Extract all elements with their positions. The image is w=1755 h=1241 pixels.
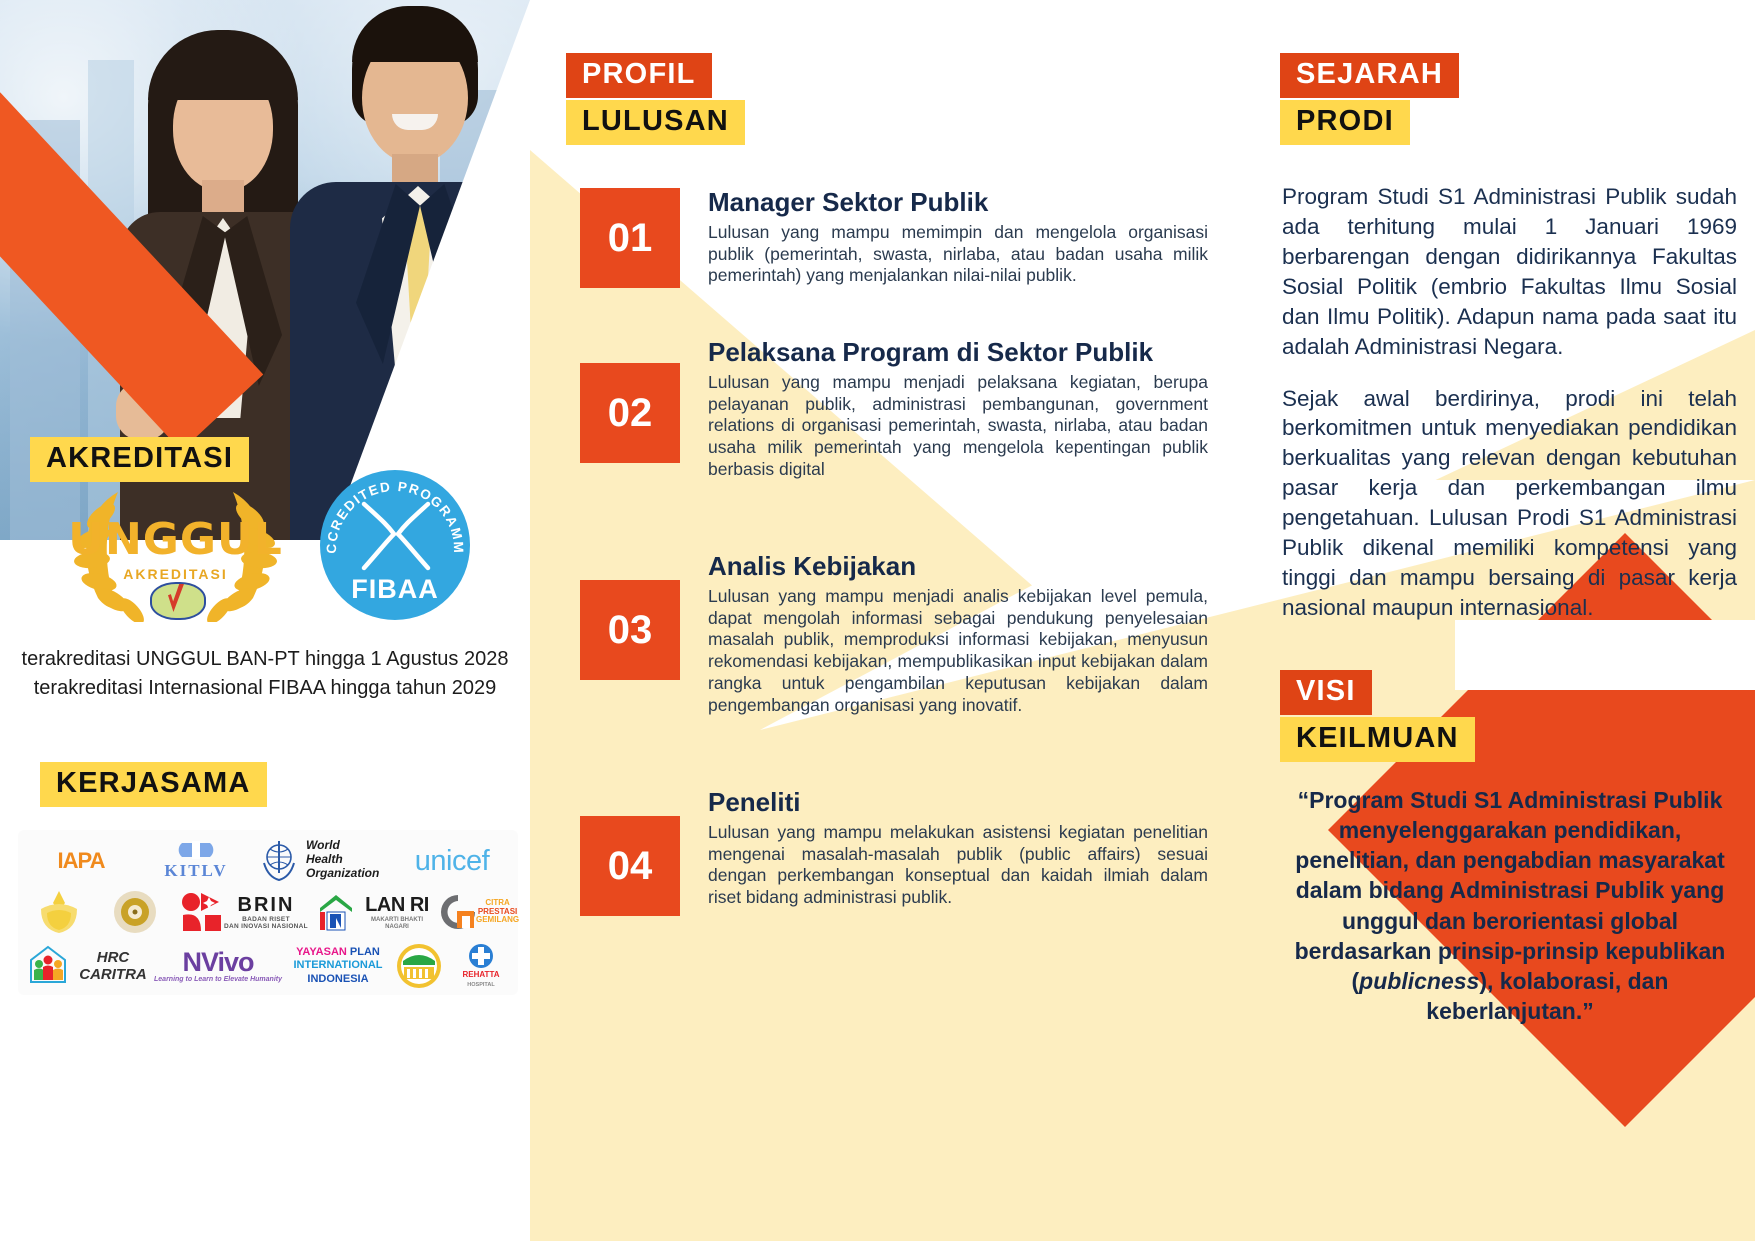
accreditation-caption-line1: terakreditasi UNGGUL BAN-PT hingga 1 Agu…: [0, 645, 530, 674]
lulusan-heading: LULUSAN: [566, 100, 745, 145]
partner-logo-hrc-caritra: HRCCARITRA: [78, 946, 148, 986]
partner-logo-unicef: unicef: [396, 844, 508, 878]
partner-logo-grid: IAPA KITLV WorldHealthOrganization: [18, 830, 518, 995]
partner-logo-rsud-jateng: [392, 942, 446, 990]
profil-item-4-title: Peneliti: [708, 788, 1208, 818]
rsud-emblem-icon: [395, 943, 443, 989]
partner-logo-who-text: WorldHealthOrganization: [306, 838, 390, 882]
partner-logo-yayasan-plan: YAYASAN PLANINTERNATIONALINDONESIA: [290, 942, 386, 990]
partner-logo-universitas-indonesia: [26, 888, 92, 936]
partner-logo-kitlv: KITLV: [146, 836, 246, 884]
prodi-label: PRODI: [1280, 100, 1410, 145]
accreditation-caption: terakreditasi UNGGUL BAN-PT hingga 1 Agu…: [0, 645, 530, 703]
partner-logo-rehatta: REHATTAHOSPITAL: [452, 942, 510, 990]
middle-column: PROFIL LULUSAN 01 Manager Sektor Publik …: [530, 0, 1250, 1241]
profil-item-2-title: Pelaksana Program di Sektor Publik: [708, 338, 1208, 368]
brochure-page: AKREDITASI: [0, 0, 1755, 1241]
visi-statement: “Program Studi S1 Administrasi Publik me…: [1280, 785, 1740, 1026]
profil-item-4-body: Peneliti Lulusan yang mampu melakukan as…: [708, 788, 1208, 909]
lanri-house-icon: [316, 892, 356, 932]
profil-item-1-number: 01: [580, 188, 680, 288]
brin-mark-icon: [179, 891, 223, 933]
citra-g-icon: [439, 893, 477, 931]
partner-logo-ugm: [102, 888, 168, 936]
profil-item-4-number: 04: [580, 816, 680, 916]
profil-heading: PROFIL: [566, 53, 712, 98]
profil-item-2-number: 02: [580, 363, 680, 463]
partner-logo-lanri-mark: [314, 890, 358, 934]
partner-logo-nvivo: NVivo Learning to Learn to Elevate Human…: [154, 940, 282, 992]
partner-logo-iapa: IAPA: [26, 840, 136, 882]
woman-hair-front: [148, 30, 298, 100]
unggul-sublabel: AKREDITASI: [58, 566, 293, 582]
sejarah-paragraph-1: Program Studi S1 Administrasi Publik sud…: [1282, 182, 1737, 362]
partner-logo-citra-mark: [438, 890, 478, 934]
visi-statement-part1: “Program Studi S1 Administrasi Publik me…: [1295, 787, 1726, 994]
sejarah-label: SEJARAH: [1280, 53, 1459, 98]
visi-statement-italic: publicness: [1359, 968, 1479, 994]
sejarah-body: Program Studi S1 Administrasi Publik sud…: [1282, 182, 1737, 623]
accreditation-caption-line2: terakreditasi Internasional FIBAA hingga…: [0, 674, 530, 703]
visi-label: VISI: [1280, 670, 1372, 715]
profil-item-3-number: 03: [580, 580, 680, 680]
prodi-heading: PRODI: [1280, 100, 1410, 145]
partner-logo-hrc-mark: [22, 942, 74, 990]
profil-item-4-text: Lulusan yang mampu melakukan asistensi k…: [708, 822, 1208, 910]
profil-item-1-body: Manager Sektor Publik Lulusan yang mampu…: [708, 188, 1208, 287]
right-column: SEJARAH PRODI Program Studi S1 Administr…: [1250, 0, 1755, 1241]
sejarah-heading: SEJARAH: [1280, 53, 1459, 98]
ui-makara-icon: [33, 889, 85, 935]
profil-label: PROFIL: [566, 53, 712, 98]
profil-item-3-text: Lulusan yang mampu menjadi analis kebija…: [708, 586, 1208, 717]
keilmuan-label: KEILMUAN: [1280, 717, 1475, 762]
partner-logo-citra-text: CITRAPRESTASIGEMILANG: [476, 892, 516, 932]
partner-logo-brin-text: BRIN BADAN RISETDAN INOVASI NASIONAL: [224, 890, 308, 934]
partner-logo-who-mark: [256, 838, 302, 882]
partner-logo-brin-mark: [176, 890, 226, 934]
kitlv-mark-icon: [176, 839, 216, 861]
fibaa-word: FIBAA: [320, 574, 470, 605]
profil-item-3-title: Analis Kebijakan: [708, 552, 1208, 582]
sejarah-paragraph-2: Sejak awal berdirinya, prodi ini telah b…: [1282, 384, 1737, 623]
man-hair-top: [352, 6, 478, 62]
profil-item-1-title: Manager Sektor Publik: [708, 188, 1208, 218]
keilmuan-heading: KEILMUAN: [1280, 717, 1475, 762]
profil-item-2-body: Pelaksana Program di Sektor Publik Lulus…: [708, 338, 1208, 481]
hrc-people-icon: [25, 944, 71, 988]
profil-item-2-text: Lulusan yang mampu menjadi pelaksana keg…: [708, 372, 1208, 481]
fibaa-x-icon: [360, 500, 432, 572]
profil-item-1-text: Lulusan yang mampu memimpin dan mengelol…: [708, 222, 1208, 288]
unggul-word: UNGGUL: [58, 514, 293, 565]
left-panel: AKREDITASI: [0, 0, 530, 1241]
accreditation-logos: UNGGUL AKREDITASI ACCREDITED PROGRAMME F…: [30, 470, 500, 625]
kerjasama-label: KERJASAMA: [40, 762, 267, 807]
lulusan-label: LULUSAN: [566, 100, 745, 145]
kerjasama-heading: KERJASAMA: [40, 762, 267, 807]
profil-item-3-body: Analis Kebijakan Lulusan yang mampu menj…: [708, 552, 1208, 717]
visi-heading: VISI: [1280, 670, 1372, 715]
partner-logo-lanri-text: LAN RI MAKARTI BHAKTI NAGARI: [360, 890, 434, 934]
who-emblem-icon: [258, 839, 300, 881]
unggul-badge: UNGGUL AKREDITASI: [58, 472, 293, 622]
rehatta-cross-icon: [466, 943, 496, 971]
ugm-emblem-icon: [111, 889, 159, 935]
